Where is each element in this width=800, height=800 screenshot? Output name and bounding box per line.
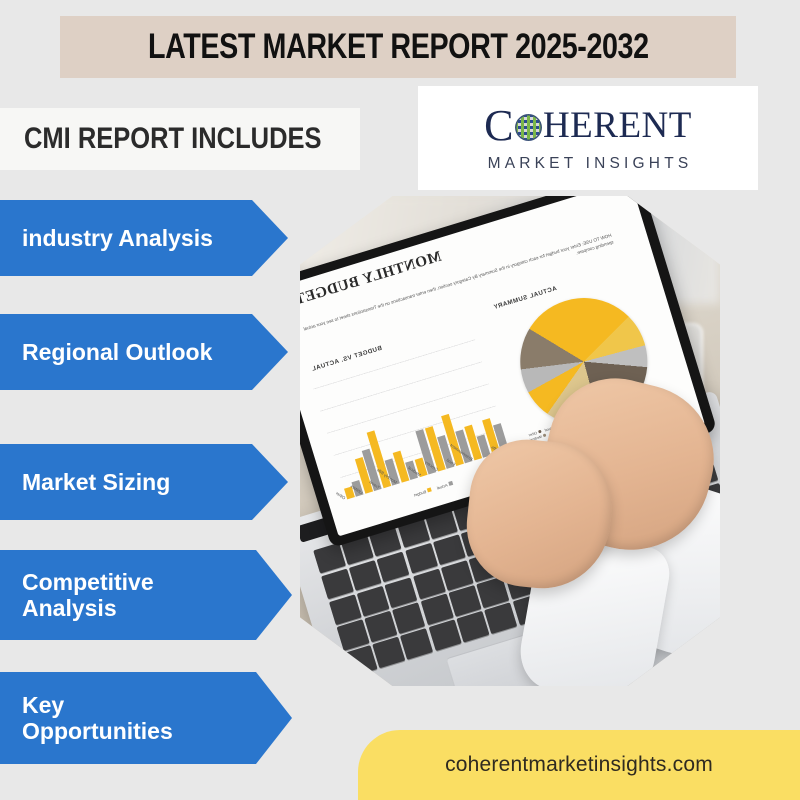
feature-banner-label: industry Analysis: [0, 225, 259, 251]
feature-banner-market-sizing[interactable]: Market Sizing: [0, 444, 288, 520]
feature-banner-label: Key Opportunities: [0, 692, 219, 745]
feature-banner-regional-outlook[interactable]: Regional Outlook: [0, 314, 288, 390]
section-heading: CMI REPORT INCLUDES: [24, 122, 322, 156]
globe-icon: [515, 114, 542, 141]
feature-banner-label: Competitive Analysis: [0, 569, 200, 622]
logo-word-rest: HERENT: [543, 107, 692, 144]
logo-tagline: MARKET INSIGHTS: [484, 155, 693, 173]
feature-banner-key-opportunities[interactable]: Key Opportunities: [0, 672, 292, 764]
feature-banner-competitive-analysis[interactable]: Competitive Analysis: [0, 550, 292, 640]
keyboard-key: [401, 628, 434, 660]
footer-band: coherentmarketinsights.com: [358, 730, 800, 800]
section-heading-band: CMI REPORT INCLUDES: [0, 108, 360, 170]
keyboard-key: [485, 602, 518, 634]
feature-banner-label: Market Sizing: [0, 469, 216, 495]
legend-entry: Budget: [414, 487, 433, 497]
bar-chart-legend: BudgetActual: [414, 480, 454, 497]
keyboard-key: [373, 637, 406, 669]
keyboard-key: [457, 611, 490, 643]
brand-logo: C HERENT MARKET INSIGHTS: [418, 86, 758, 190]
legend-entry: Actual: [437, 480, 454, 490]
poster-canvas: LATEST MARKET REPORT 2025-2032 CMI REPOR…: [0, 0, 800, 800]
logo-letter-c: C: [484, 104, 514, 148]
title-band: LATEST MARKET REPORT 2025-2032: [60, 16, 736, 78]
logo-wordmark: C HERENT: [484, 104, 692, 148]
keyboard-key: [429, 620, 462, 652]
feature-banner-industry-analysis[interactable]: industry Analysis: [0, 200, 288, 276]
feature-banner-label: Regional Outlook: [0, 339, 258, 365]
page-title: LATEST MARKET REPORT 2025-2032: [148, 27, 649, 67]
website-url[interactable]: coherentmarketinsights.com: [445, 753, 713, 777]
pie-chart-title: ACTUAL SUMMARY: [493, 285, 558, 311]
hero-photo: MONTHLY BUDGET HOW TO USE: Enter your bu…: [300, 196, 720, 686]
hero-photo-hexagon: MONTHLY BUDGET HOW TO USE: Enter your bu…: [300, 196, 720, 686]
keyboard-key: [345, 645, 378, 677]
